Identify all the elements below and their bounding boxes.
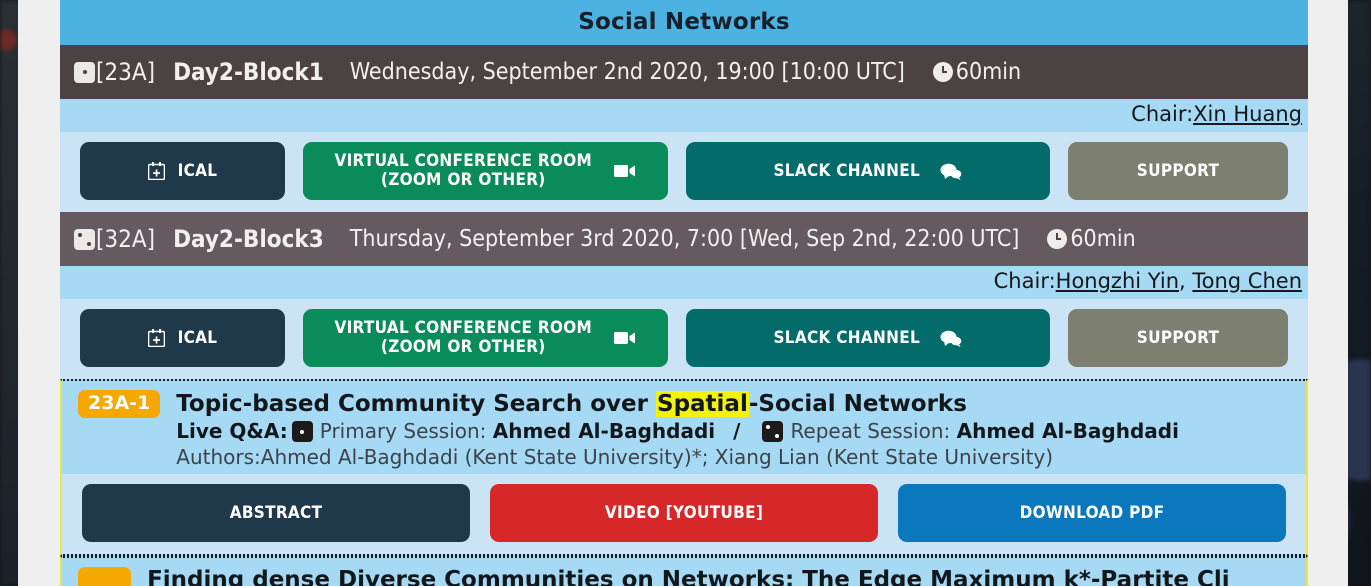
ical-button-label: ICAL	[178, 162, 218, 181]
support-button-label: SUPPORT	[1137, 162, 1219, 181]
paper-id-badge-next	[78, 567, 131, 586]
abstract-button-label: ABSTRACT	[230, 504, 323, 523]
clock-icon	[933, 62, 953, 82]
video-youtube-button[interactable]: VIDEO [YOUTUBE]	[490, 484, 878, 542]
slack-channel-button[interactable]: SLACK CHANNEL	[686, 309, 1051, 367]
session-header-bar-2: [32A] Day2-Block3 Thursday, September 3r…	[60, 212, 1308, 266]
session-button-strip-2: ICAL VIRTUAL CONFERENCE ROOM (ZOOM OR OT…	[60, 299, 1308, 379]
video-camera-icon	[614, 331, 636, 345]
session-code-2: [32A]	[74, 225, 155, 253]
virtual-conference-room-label: VIRTUAL CONFERENCE ROOM (ZOOM OR OTHER)	[334, 319, 592, 357]
session-duration-1: 60min	[933, 59, 1021, 85]
calendar-plus-icon	[148, 162, 165, 180]
virtual-conference-room-label: VIRTUAL CONFERENCE ROOM (ZOOM OR OTHER)	[334, 152, 592, 190]
liveqa-label: Live Q&A:	[176, 419, 287, 444]
chair-label: Chair:	[994, 269, 1056, 293]
dice-two-icon	[762, 421, 784, 442]
clock-icon	[1047, 229, 1067, 249]
support-button-label: SUPPORT	[1137, 329, 1219, 348]
session-button-strip-1: ICAL VIRTUAL CONFERENCE ROOM (ZOOM OR OT…	[60, 132, 1308, 212]
paper-title-post: -Social Networks	[749, 391, 967, 417]
repeat-session-label: Repeat Session:	[790, 419, 950, 444]
chair-separator: ,	[1179, 269, 1192, 293]
session-card: Social Networks [23A] Day2-Block1 Wednes…	[60, 0, 1308, 586]
support-button[interactable]: SUPPORT	[1068, 309, 1288, 367]
paper-entry: 23A-1 Topic-based Community Search over …	[60, 379, 1308, 556]
paper-authors: Authors:Ahmed Al-Baghdadi (Kent State Un…	[176, 445, 1294, 470]
paper-header: 23A-1 Topic-based Community Search over …	[62, 381, 1306, 474]
chair-link-hongzhi-yin[interactable]: Hongzhi Yin	[1056, 269, 1179, 293]
download-pdf-button-label: DOWNLOAD PDF	[1020, 504, 1165, 523]
paper-entry-next: Finding dense Diverse Communities on Net…	[60, 556, 1308, 586]
ical-button[interactable]: ICAL	[80, 309, 285, 367]
chat-bubbles-icon	[940, 330, 962, 347]
chair-link-xin-huang[interactable]: Xin Huang	[1193, 102, 1302, 126]
chair-row-2: Chair:Hongzhi Yin, Tong Chen	[60, 266, 1308, 299]
calendar-plus-icon	[148, 329, 165, 347]
primary-session-label: Primary Session:	[320, 419, 487, 444]
video-camera-icon	[614, 164, 636, 178]
virtual-conference-room-button[interactable]: VIRTUAL CONFERENCE ROOM (ZOOM OR OTHER)	[303, 309, 668, 367]
video-youtube-button-label: VIDEO [YOUTUBE]	[605, 504, 763, 523]
session-datetime-2: Thursday, September 3rd 2020, 7:00 [Wed,…	[350, 226, 1020, 252]
chair-link-tong-chen[interactable]: Tong Chen	[1192, 269, 1302, 293]
chair-row-1: Chair:Xin Huang	[60, 99, 1308, 132]
download-pdf-button[interactable]: DOWNLOAD PDF	[898, 484, 1286, 542]
paper-button-strip: ABSTRACT VIDEO [YOUTUBE] DOWNLOAD PDF	[62, 474, 1306, 554]
abstract-button[interactable]: ABSTRACT	[82, 484, 470, 542]
virtual-conference-room-button[interactable]: VIRTUAL CONFERENCE ROOM (ZOOM OR OTHER)	[303, 142, 668, 200]
slack-channel-label: SLACK CHANNEL	[773, 329, 920, 348]
paper-title-highlight: Spatial	[656, 391, 749, 417]
paper-text-block: Topic-based Community Search over Spatia…	[176, 390, 1294, 470]
paper-title-pre: Topic-based Community Search over	[176, 391, 656, 417]
slack-channel-button[interactable]: SLACK CHANNEL	[686, 142, 1051, 200]
dice-one-icon	[74, 62, 95, 83]
session-duration-2: 60min	[1047, 226, 1135, 252]
vcr-line-1: VIRTUAL CONFERENCE ROOM	[334, 151, 592, 171]
chair-label: Chair:	[1131, 102, 1193, 126]
ical-button[interactable]: ICAL	[80, 142, 285, 200]
qa-separator: /	[733, 419, 740, 444]
paper-id-badge: 23A-1	[78, 390, 160, 418]
session-code-1: [23A]	[74, 58, 155, 86]
page-root: Social Networks [23A] Day2-Block1 Wednes…	[0, 0, 1371, 586]
vcr-line-2: (ZOOM OR OTHER)	[381, 337, 546, 357]
repeat-session-person: Ahmed Al-Baghdadi	[957, 419, 1179, 444]
dice-one-icon	[292, 421, 314, 442]
slack-channel-label: SLACK CHANNEL	[773, 162, 920, 181]
session-block-label-1: Day2-Block1	[173, 58, 324, 86]
chat-bubbles-icon	[940, 163, 962, 180]
session-datetime-1: Wednesday, September 2nd 2020, 19:00 [10…	[350, 59, 905, 85]
support-button[interactable]: SUPPORT	[1068, 142, 1288, 200]
paper-title-next: Finding dense Diverse Communities on Net…	[147, 567, 1230, 586]
vcr-line-2: (ZOOM OR OTHER)	[381, 170, 546, 190]
page-title: Social Networks	[60, 0, 1308, 45]
ical-button-label: ICAL	[178, 329, 218, 348]
primary-session-person: Ahmed Al-Baghdadi	[493, 419, 715, 444]
dice-two-icon	[74, 229, 95, 250]
vcr-line-1: VIRTUAL CONFERENCE ROOM	[334, 318, 592, 338]
session-header-bar-1: [23A] Day2-Block1 Wednesday, September 2…	[60, 45, 1308, 99]
paper-liveqa-row: Live Q&A: Primary Session: Ahmed Al-Bagh…	[176, 419, 1294, 444]
paper-title: Topic-based Community Search over Spatia…	[176, 391, 1294, 417]
session-block-label-2: Day2-Block3	[173, 225, 324, 253]
